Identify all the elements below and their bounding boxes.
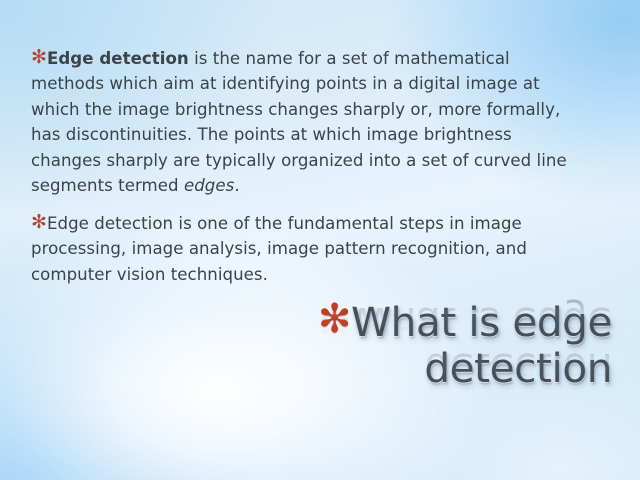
body-paragraph-2: ✻Edge detection is one of the fundamenta… (31, 211, 587, 287)
body-paragraph-1: ✻Edge detection is the name for a set of… (31, 46, 587, 198)
paragraph-2-text: Edge detection is one of the fundamental… (31, 214, 527, 284)
bullet-asterisk-icon: ✻ (31, 46, 47, 68)
paragraph-1-tail: . (234, 176, 239, 195)
bullet-asterisk-icon: ✻ (31, 211, 47, 233)
title-line-2: detection (300, 345, 612, 391)
paragraph-1-bold-lead: Edge detection (47, 49, 189, 68)
title-line-1-wrapper: ✻What is edge ✻What is edge (300, 299, 612, 345)
paragraph-1-text: Edge detection is the name for a set of … (31, 49, 567, 195)
title-asterisk-icon: ✻ (318, 296, 351, 342)
slide-canvas: ✻Edge detection is the name for a set of… (0, 0, 640, 480)
title-line-2-wrapper: detection detection (300, 345, 612, 391)
paragraph-1-body: is the name for a set of mathematical me… (31, 49, 567, 195)
title-line-1: ✻What is edge (300, 299, 612, 345)
slide-title: ✻What is edge ✻What is edge detection de… (300, 299, 612, 391)
title-line-1-text: What is edge (351, 298, 612, 346)
paragraph-1-emphasis: edges (184, 176, 234, 195)
